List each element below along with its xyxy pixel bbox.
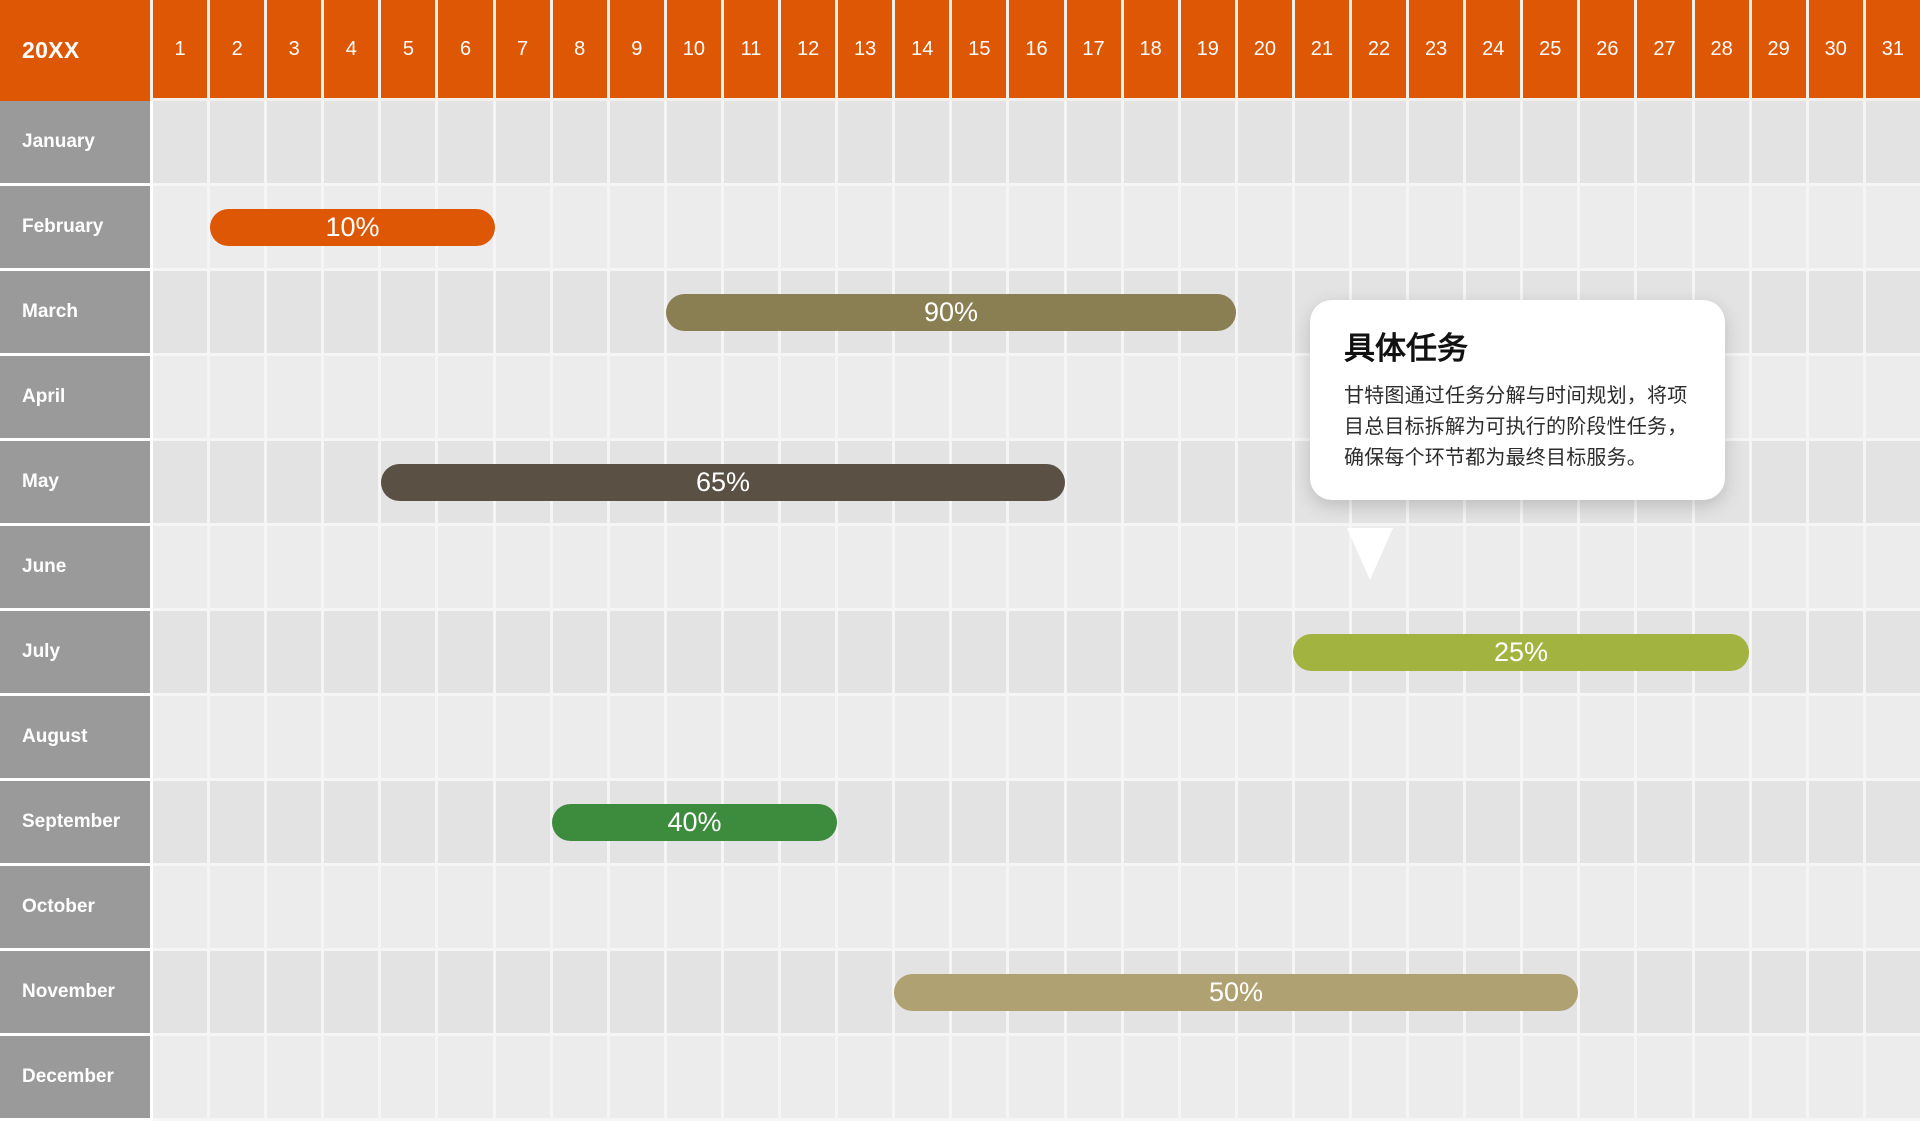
task-bar-september[interactable]: 40%: [552, 804, 837, 841]
cell-may-29[interactable]: [1752, 441, 1809, 526]
cell-october-25[interactable]: [1523, 866, 1580, 951]
cell-september-25[interactable]: [1523, 781, 1580, 866]
cell-april-19[interactable]: [1181, 356, 1238, 441]
cell-december-1[interactable]: [153, 1036, 210, 1121]
cell-march-30[interactable]: [1809, 271, 1866, 356]
cell-january-25[interactable]: [1523, 101, 1580, 186]
cell-february-12[interactable]: [781, 186, 838, 271]
cell-june-8[interactable]: [553, 526, 610, 611]
cell-october-23[interactable]: [1409, 866, 1466, 951]
cell-march-5[interactable]: [381, 271, 438, 356]
day-header-25[interactable]: 25: [1523, 0, 1580, 101]
cell-january-29[interactable]: [1752, 101, 1809, 186]
cell-december-13[interactable]: [838, 1036, 895, 1121]
day-header-12[interactable]: 12: [781, 0, 838, 101]
cell-january-17[interactable]: [1067, 101, 1124, 186]
cell-april-17[interactable]: [1067, 356, 1124, 441]
day-header-16[interactable]: 16: [1009, 0, 1066, 101]
cell-july-6[interactable]: [438, 611, 495, 696]
cell-october-30[interactable]: [1809, 866, 1866, 951]
cell-february-8[interactable]: [553, 186, 610, 271]
cell-december-5[interactable]: [381, 1036, 438, 1121]
day-header-6[interactable]: 6: [438, 0, 495, 101]
cell-february-15[interactable]: [952, 186, 1009, 271]
cell-august-16[interactable]: [1009, 696, 1066, 781]
cell-august-1[interactable]: [153, 696, 210, 781]
cell-march-6[interactable]: [438, 271, 495, 356]
cell-december-18[interactable]: [1124, 1036, 1181, 1121]
cell-june-12[interactable]: [781, 526, 838, 611]
cell-january-18[interactable]: [1124, 101, 1181, 186]
cell-august-31[interactable]: [1866, 696, 1920, 781]
task-bar-november[interactable]: 50%: [894, 974, 1578, 1011]
month-label-october[interactable]: October: [0, 866, 153, 951]
cell-february-10[interactable]: [667, 186, 724, 271]
cell-november-29[interactable]: [1752, 951, 1809, 1036]
cell-october-17[interactable]: [1067, 866, 1124, 951]
month-label-november[interactable]: November: [0, 951, 153, 1036]
cell-january-1[interactable]: [153, 101, 210, 186]
cell-june-30[interactable]: [1809, 526, 1866, 611]
cell-april-7[interactable]: [496, 356, 553, 441]
cell-september-3[interactable]: [267, 781, 324, 866]
day-header-22[interactable]: 22: [1352, 0, 1409, 101]
cell-september-19[interactable]: [1181, 781, 1238, 866]
cell-august-18[interactable]: [1124, 696, 1181, 781]
cell-june-24[interactable]: [1466, 526, 1523, 611]
cell-may-31[interactable]: [1866, 441, 1920, 526]
cell-august-19[interactable]: [1181, 696, 1238, 781]
cell-february-17[interactable]: [1067, 186, 1124, 271]
cell-january-3[interactable]: [267, 101, 324, 186]
cell-october-29[interactable]: [1752, 866, 1809, 951]
cell-november-7[interactable]: [496, 951, 553, 1036]
day-header-8[interactable]: 8: [553, 0, 610, 101]
cell-november-28[interactable]: [1695, 951, 1752, 1036]
cell-december-28[interactable]: [1695, 1036, 1752, 1121]
cell-october-18[interactable]: [1124, 866, 1181, 951]
cell-march-2[interactable]: [210, 271, 267, 356]
cell-april-3[interactable]: [267, 356, 324, 441]
cell-february-22[interactable]: [1352, 186, 1409, 271]
cell-april-12[interactable]: [781, 356, 838, 441]
cell-june-23[interactable]: [1409, 526, 1466, 611]
cell-september-5[interactable]: [381, 781, 438, 866]
cell-august-2[interactable]: [210, 696, 267, 781]
cell-april-5[interactable]: [381, 356, 438, 441]
cell-july-1[interactable]: [153, 611, 210, 696]
cell-february-19[interactable]: [1181, 186, 1238, 271]
cell-september-21[interactable]: [1295, 781, 1352, 866]
month-label-january[interactable]: January: [0, 101, 153, 186]
cell-january-26[interactable]: [1580, 101, 1637, 186]
cell-january-22[interactable]: [1352, 101, 1409, 186]
cell-july-16[interactable]: [1009, 611, 1066, 696]
cell-august-4[interactable]: [324, 696, 381, 781]
cell-september-31[interactable]: [1866, 781, 1920, 866]
cell-november-8[interactable]: [553, 951, 610, 1036]
cell-january-13[interactable]: [838, 101, 895, 186]
day-header-29[interactable]: 29: [1752, 0, 1809, 101]
month-label-february[interactable]: February: [0, 186, 153, 271]
cell-july-15[interactable]: [952, 611, 1009, 696]
cell-june-11[interactable]: [724, 526, 781, 611]
cell-january-23[interactable]: [1409, 101, 1466, 186]
day-header-20[interactable]: 20: [1238, 0, 1295, 101]
cell-august-26[interactable]: [1580, 696, 1637, 781]
cell-february-7[interactable]: [496, 186, 553, 271]
cell-june-28[interactable]: [1695, 526, 1752, 611]
cell-july-2[interactable]: [210, 611, 267, 696]
cell-august-15[interactable]: [952, 696, 1009, 781]
cell-november-10[interactable]: [667, 951, 724, 1036]
cell-february-29[interactable]: [1752, 186, 1809, 271]
cell-november-27[interactable]: [1637, 951, 1694, 1036]
cell-december-10[interactable]: [667, 1036, 724, 1121]
cell-june-9[interactable]: [610, 526, 667, 611]
cell-april-29[interactable]: [1752, 356, 1809, 441]
cell-october-19[interactable]: [1181, 866, 1238, 951]
cell-june-20[interactable]: [1238, 526, 1295, 611]
cell-august-24[interactable]: [1466, 696, 1523, 781]
cell-july-10[interactable]: [667, 611, 724, 696]
cell-december-31[interactable]: [1866, 1036, 1920, 1121]
cell-april-13[interactable]: [838, 356, 895, 441]
cell-march-9[interactable]: [610, 271, 667, 356]
cell-january-20[interactable]: [1238, 101, 1295, 186]
cell-february-11[interactable]: [724, 186, 781, 271]
cell-november-3[interactable]: [267, 951, 324, 1036]
cell-december-27[interactable]: [1637, 1036, 1694, 1121]
cell-december-7[interactable]: [496, 1036, 553, 1121]
cell-july-13[interactable]: [838, 611, 895, 696]
cell-november-6[interactable]: [438, 951, 495, 1036]
cell-august-8[interactable]: [553, 696, 610, 781]
cell-march-7[interactable]: [496, 271, 553, 356]
cell-april-14[interactable]: [895, 356, 952, 441]
cell-october-14[interactable]: [895, 866, 952, 951]
cell-march-29[interactable]: [1752, 271, 1809, 356]
cell-january-27[interactable]: [1637, 101, 1694, 186]
task-bar-july[interactable]: 25%: [1293, 634, 1749, 671]
cell-january-4[interactable]: [324, 101, 381, 186]
cell-august-17[interactable]: [1067, 696, 1124, 781]
cell-march-4[interactable]: [324, 271, 381, 356]
cell-october-10[interactable]: [667, 866, 724, 951]
cell-august-27[interactable]: [1637, 696, 1694, 781]
cell-october-21[interactable]: [1295, 866, 1352, 951]
cell-august-6[interactable]: [438, 696, 495, 781]
cell-may-20[interactable]: [1238, 441, 1295, 526]
day-header-10[interactable]: 10: [667, 0, 724, 101]
cell-october-16[interactable]: [1009, 866, 1066, 951]
cell-august-10[interactable]: [667, 696, 724, 781]
day-header-21[interactable]: 21: [1295, 0, 1352, 101]
cell-march-31[interactable]: [1866, 271, 1920, 356]
cell-september-30[interactable]: [1809, 781, 1866, 866]
cell-december-21[interactable]: [1295, 1036, 1352, 1121]
cell-june-14[interactable]: [895, 526, 952, 611]
cell-october-8[interactable]: [553, 866, 610, 951]
cell-december-11[interactable]: [724, 1036, 781, 1121]
month-label-july[interactable]: July: [0, 611, 153, 696]
cell-june-18[interactable]: [1124, 526, 1181, 611]
cell-october-27[interactable]: [1637, 866, 1694, 951]
cell-december-9[interactable]: [610, 1036, 667, 1121]
month-label-april[interactable]: April: [0, 356, 153, 441]
cell-september-15[interactable]: [952, 781, 1009, 866]
month-label-december[interactable]: December: [0, 1036, 153, 1121]
cell-february-18[interactable]: [1124, 186, 1181, 271]
cell-august-23[interactable]: [1409, 696, 1466, 781]
day-header-14[interactable]: 14: [895, 0, 952, 101]
cell-may-18[interactable]: [1124, 441, 1181, 526]
cell-april-10[interactable]: [667, 356, 724, 441]
month-label-may[interactable]: May: [0, 441, 153, 526]
cell-october-24[interactable]: [1466, 866, 1523, 951]
cell-april-8[interactable]: [553, 356, 610, 441]
cell-may-3[interactable]: [267, 441, 324, 526]
cell-january-9[interactable]: [610, 101, 667, 186]
day-header-9[interactable]: 9: [610, 0, 667, 101]
cell-january-28[interactable]: [1695, 101, 1752, 186]
cell-june-2[interactable]: [210, 526, 267, 611]
cell-february-20[interactable]: [1238, 186, 1295, 271]
cell-november-13[interactable]: [838, 951, 895, 1036]
cell-august-25[interactable]: [1523, 696, 1580, 781]
cell-june-1[interactable]: [153, 526, 210, 611]
cell-january-15[interactable]: [952, 101, 1009, 186]
cell-may-1[interactable]: [153, 441, 210, 526]
cell-december-22[interactable]: [1352, 1036, 1409, 1121]
cell-november-9[interactable]: [610, 951, 667, 1036]
cell-june-10[interactable]: [667, 526, 724, 611]
cell-july-30[interactable]: [1809, 611, 1866, 696]
cell-december-24[interactable]: [1466, 1036, 1523, 1121]
cell-september-7[interactable]: [496, 781, 553, 866]
cell-june-13[interactable]: [838, 526, 895, 611]
cell-december-8[interactable]: [553, 1036, 610, 1121]
day-header-17[interactable]: 17: [1067, 0, 1124, 101]
cell-april-20[interactable]: [1238, 356, 1295, 441]
day-header-27[interactable]: 27: [1637, 0, 1694, 101]
cell-february-23[interactable]: [1409, 186, 1466, 271]
cell-december-26[interactable]: [1580, 1036, 1637, 1121]
cell-june-15[interactable]: [952, 526, 1009, 611]
cell-july-9[interactable]: [610, 611, 667, 696]
day-header-7[interactable]: 7: [496, 0, 553, 101]
cell-august-20[interactable]: [1238, 696, 1295, 781]
cell-october-12[interactable]: [781, 866, 838, 951]
cell-january-19[interactable]: [1181, 101, 1238, 186]
day-header-19[interactable]: 19: [1181, 0, 1238, 101]
cell-october-1[interactable]: [153, 866, 210, 951]
cell-january-16[interactable]: [1009, 101, 1066, 186]
cell-february-13[interactable]: [838, 186, 895, 271]
cell-february-9[interactable]: [610, 186, 667, 271]
task-bar-march[interactable]: 90%: [666, 294, 1236, 331]
cell-april-4[interactable]: [324, 356, 381, 441]
cell-july-4[interactable]: [324, 611, 381, 696]
cell-october-3[interactable]: [267, 866, 324, 951]
task-bar-february[interactable]: 10%: [210, 209, 495, 246]
day-header-15[interactable]: 15: [952, 0, 1009, 101]
cell-january-14[interactable]: [895, 101, 952, 186]
cell-september-20[interactable]: [1238, 781, 1295, 866]
day-header-2[interactable]: 2: [210, 0, 267, 101]
cell-january-30[interactable]: [1809, 101, 1866, 186]
cell-april-31[interactable]: [1866, 356, 1920, 441]
cell-august-11[interactable]: [724, 696, 781, 781]
cell-april-11[interactable]: [724, 356, 781, 441]
month-label-september[interactable]: September: [0, 781, 153, 866]
cell-july-29[interactable]: [1752, 611, 1809, 696]
cell-january-8[interactable]: [553, 101, 610, 186]
cell-october-22[interactable]: [1352, 866, 1409, 951]
cell-december-12[interactable]: [781, 1036, 838, 1121]
cell-july-5[interactable]: [381, 611, 438, 696]
cell-october-4[interactable]: [324, 866, 381, 951]
cell-august-13[interactable]: [838, 696, 895, 781]
day-header-18[interactable]: 18: [1124, 0, 1181, 101]
cell-july-3[interactable]: [267, 611, 324, 696]
cell-june-16[interactable]: [1009, 526, 1066, 611]
cell-november-30[interactable]: [1809, 951, 1866, 1036]
day-header-3[interactable]: 3: [267, 0, 324, 101]
cell-may-4[interactable]: [324, 441, 381, 526]
cell-october-31[interactable]: [1866, 866, 1920, 951]
cell-may-19[interactable]: [1181, 441, 1238, 526]
cell-september-18[interactable]: [1124, 781, 1181, 866]
cell-february-14[interactable]: [895, 186, 952, 271]
cell-october-11[interactable]: [724, 866, 781, 951]
cell-november-4[interactable]: [324, 951, 381, 1036]
cell-september-13[interactable]: [838, 781, 895, 866]
cell-december-29[interactable]: [1752, 1036, 1809, 1121]
cell-august-29[interactable]: [1752, 696, 1809, 781]
cell-may-17[interactable]: [1067, 441, 1124, 526]
cell-july-19[interactable]: [1181, 611, 1238, 696]
cell-september-17[interactable]: [1067, 781, 1124, 866]
cell-september-24[interactable]: [1466, 781, 1523, 866]
cell-october-9[interactable]: [610, 866, 667, 951]
day-header-28[interactable]: 28: [1695, 0, 1752, 101]
cell-december-17[interactable]: [1067, 1036, 1124, 1121]
month-label-august[interactable]: August: [0, 696, 153, 781]
cell-june-4[interactable]: [324, 526, 381, 611]
cell-november-1[interactable]: [153, 951, 210, 1036]
cell-november-5[interactable]: [381, 951, 438, 1036]
cell-september-14[interactable]: [895, 781, 952, 866]
cell-july-8[interactable]: [553, 611, 610, 696]
cell-february-24[interactable]: [1466, 186, 1523, 271]
month-label-june[interactable]: June: [0, 526, 153, 611]
cell-september-1[interactable]: [153, 781, 210, 866]
cell-april-30[interactable]: [1809, 356, 1866, 441]
cell-october-28[interactable]: [1695, 866, 1752, 951]
cell-september-6[interactable]: [438, 781, 495, 866]
cell-january-11[interactable]: [724, 101, 781, 186]
cell-april-2[interactable]: [210, 356, 267, 441]
cell-june-26[interactable]: [1580, 526, 1637, 611]
cell-february-31[interactable]: [1866, 186, 1920, 271]
cell-december-15[interactable]: [952, 1036, 1009, 1121]
task-bar-may[interactable]: 65%: [381, 464, 1065, 501]
cell-february-1[interactable]: [153, 186, 210, 271]
cell-august-5[interactable]: [381, 696, 438, 781]
cell-august-3[interactable]: [267, 696, 324, 781]
cell-september-16[interactable]: [1009, 781, 1066, 866]
cell-november-26[interactable]: [1580, 951, 1637, 1036]
cell-june-17[interactable]: [1067, 526, 1124, 611]
cell-december-30[interactable]: [1809, 1036, 1866, 1121]
cell-august-14[interactable]: [895, 696, 952, 781]
cell-february-21[interactable]: [1295, 186, 1352, 271]
cell-july-18[interactable]: [1124, 611, 1181, 696]
cell-august-12[interactable]: [781, 696, 838, 781]
cell-july-12[interactable]: [781, 611, 838, 696]
cell-august-30[interactable]: [1809, 696, 1866, 781]
cell-april-15[interactable]: [952, 356, 1009, 441]
cell-december-25[interactable]: [1523, 1036, 1580, 1121]
cell-february-30[interactable]: [1809, 186, 1866, 271]
cell-october-26[interactable]: [1580, 866, 1637, 951]
cell-march-3[interactable]: [267, 271, 324, 356]
cell-june-19[interactable]: [1181, 526, 1238, 611]
cell-april-1[interactable]: [153, 356, 210, 441]
cell-september-27[interactable]: [1637, 781, 1694, 866]
cell-august-21[interactable]: [1295, 696, 1352, 781]
day-header-11[interactable]: 11: [724, 0, 781, 101]
cell-march-20[interactable]: [1238, 271, 1295, 356]
cell-april-16[interactable]: [1009, 356, 1066, 441]
cell-july-17[interactable]: [1067, 611, 1124, 696]
cell-january-5[interactable]: [381, 101, 438, 186]
cell-december-2[interactable]: [210, 1036, 267, 1121]
cell-january-24[interactable]: [1466, 101, 1523, 186]
day-header-5[interactable]: 5: [381, 0, 438, 101]
cell-june-29[interactable]: [1752, 526, 1809, 611]
cell-august-22[interactable]: [1352, 696, 1409, 781]
day-header-30[interactable]: 30: [1809, 0, 1866, 101]
cell-december-19[interactable]: [1181, 1036, 1238, 1121]
cell-january-12[interactable]: [781, 101, 838, 186]
cell-june-6[interactable]: [438, 526, 495, 611]
cell-july-31[interactable]: [1866, 611, 1920, 696]
cell-june-3[interactable]: [267, 526, 324, 611]
cell-october-6[interactable]: [438, 866, 495, 951]
cell-november-11[interactable]: [724, 951, 781, 1036]
cell-november-2[interactable]: [210, 951, 267, 1036]
cell-june-5[interactable]: [381, 526, 438, 611]
cell-may-30[interactable]: [1809, 441, 1866, 526]
cell-september-4[interactable]: [324, 781, 381, 866]
cell-july-11[interactable]: [724, 611, 781, 696]
day-header-1[interactable]: 1: [153, 0, 210, 101]
day-header-26[interactable]: 26: [1580, 0, 1637, 101]
cell-january-7[interactable]: [496, 101, 553, 186]
cell-february-16[interactable]: [1009, 186, 1066, 271]
cell-march-8[interactable]: [553, 271, 610, 356]
cell-february-27[interactable]: [1637, 186, 1694, 271]
cell-october-7[interactable]: [496, 866, 553, 951]
cell-may-2[interactable]: [210, 441, 267, 526]
cell-september-23[interactable]: [1409, 781, 1466, 866]
cell-october-15[interactable]: [952, 866, 1009, 951]
cell-june-31[interactable]: [1866, 526, 1920, 611]
cell-january-21[interactable]: [1295, 101, 1352, 186]
cell-october-5[interactable]: [381, 866, 438, 951]
